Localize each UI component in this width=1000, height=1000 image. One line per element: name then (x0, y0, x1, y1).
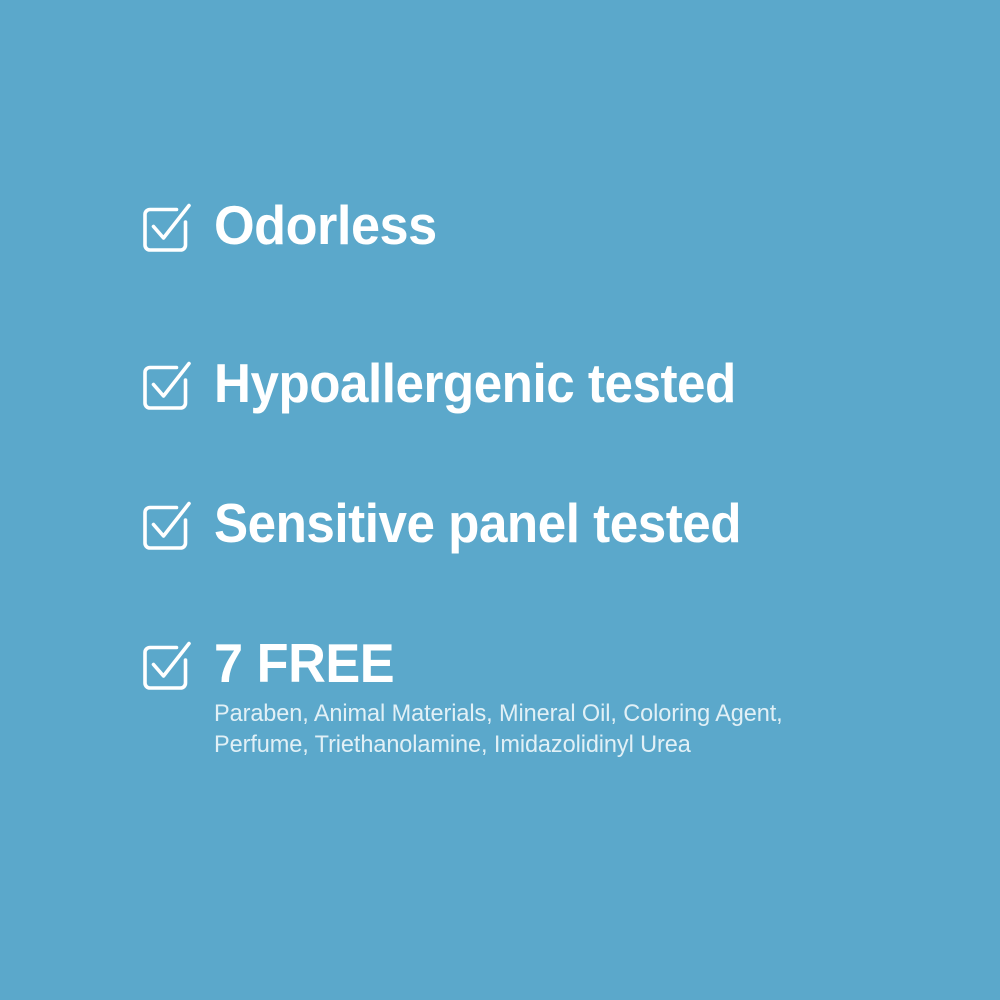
feature-item-sensitive-panel-tested: Sensitive panel tested (136, 494, 936, 556)
feature-text-wrap: 7 FREE Paraben, Animal Materials, Minera… (214, 634, 936, 760)
feature-label: 7 FREE (214, 634, 900, 692)
checked-checkbox-icon (136, 638, 194, 696)
row-spacer (136, 556, 936, 634)
feature-text-wrap: Hypoallergenic tested (214, 354, 936, 412)
feature-label: Hypoallergenic tested (214, 354, 885, 412)
feature-item-odorless: Odorless (136, 196, 936, 258)
feature-label: Sensitive panel tested (214, 494, 885, 552)
product-feature-graphic: Odorless Hypoallergenic tested Sensitive… (0, 0, 1000, 1000)
row-spacer (136, 416, 936, 494)
feature-text-wrap: Sensitive panel tested (214, 494, 936, 552)
checked-checkbox-icon (136, 200, 194, 258)
feature-item-hypoallergenic-tested: Hypoallergenic tested (136, 354, 936, 416)
checked-checkbox-icon (136, 358, 194, 416)
row-spacer (136, 258, 936, 354)
feature-list: Odorless Hypoallergenic tested Sensitive… (136, 196, 936, 760)
feature-item-7-free: 7 FREE Paraben, Animal Materials, Minera… (136, 634, 936, 760)
checked-checkbox-icon (136, 498, 194, 556)
ingredient-line: Paraben, Animal Materials, Mineral Oil, … (214, 698, 907, 729)
feature-label: Odorless (214, 196, 900, 254)
feature-text-wrap: Odorless (214, 196, 936, 254)
ingredient-line: Perfume, Triethanolamine, Imidazolidinyl… (214, 729, 907, 760)
free-from-ingredient-list: Paraben, Animal Materials, Mineral Oil, … (214, 698, 907, 760)
